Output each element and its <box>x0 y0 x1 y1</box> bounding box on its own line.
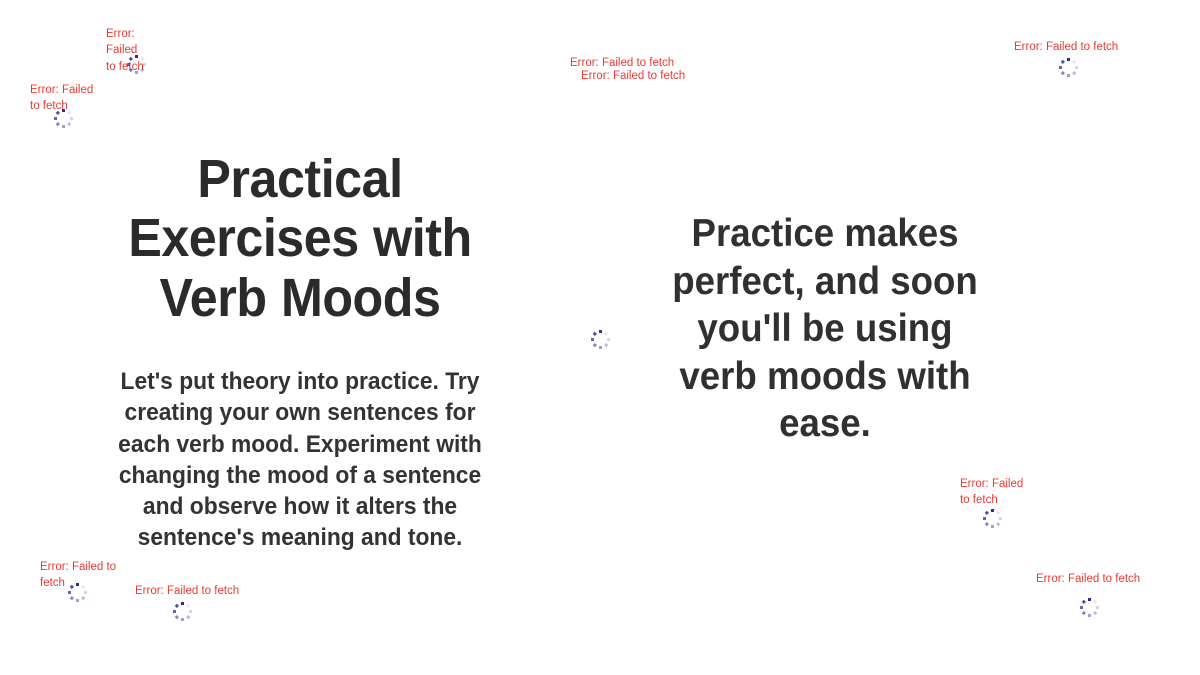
spinner-dot <box>1067 58 1070 61</box>
loading-spinner-icon <box>1058 57 1078 77</box>
spinner-dot <box>173 610 176 613</box>
spinner-dot <box>174 603 178 607</box>
spinner-dot <box>67 110 71 114</box>
spinner-dot <box>181 602 184 605</box>
spinner-dot <box>54 117 57 120</box>
spinner-dot <box>81 584 85 588</box>
fetch-error-message: Error: Failed to fetch <box>135 583 255 599</box>
spinner-ring <box>590 329 610 349</box>
loading-spinner-icon <box>1079 597 1099 617</box>
spinner-dot <box>1072 71 1076 75</box>
spinner-ring <box>126 54 146 74</box>
spinner-dot <box>1088 598 1091 601</box>
spinner-dot <box>135 71 138 74</box>
spinner-dot <box>128 56 132 60</box>
fetch-error-message: Error: Failed to fetch <box>1036 571 1156 587</box>
spinner-dot <box>62 109 65 112</box>
spinner-ring <box>982 508 1002 528</box>
spinner-dot <box>1093 599 1097 603</box>
right-text-column: Practice makes perfect, and soon you'll … <box>660 210 990 448</box>
spinner-ring <box>67 582 87 602</box>
spinner-dot <box>62 125 65 128</box>
spinner-dot <box>983 517 986 520</box>
slide-body-paragraph: Let's put theory into practice. Try crea… <box>99 366 502 553</box>
spinner-dot <box>186 615 190 619</box>
slide-pullquote: Practice makes perfect, and soon you'll … <box>670 210 980 448</box>
spinner-dot <box>1093 611 1097 615</box>
loading-spinner-icon <box>67 582 87 602</box>
spinner-dot <box>592 331 596 335</box>
fetch-error-message: Error: Failed to fetch <box>581 68 701 84</box>
spinner-dot <box>1080 606 1083 609</box>
spinner-dot <box>181 618 184 621</box>
spinner-dot <box>1096 606 1099 609</box>
spinner-dot <box>599 346 602 349</box>
fetch-error-text: Error: Failed to fetch <box>581 68 701 84</box>
spinner-ring <box>1058 57 1078 77</box>
spinner-dot <box>174 615 178 619</box>
spinner-dot <box>81 596 85 600</box>
page-title: Practical Exercises with Verb Moods <box>77 150 523 328</box>
fetch-error-message: Error: Failed to fetch <box>960 476 1024 509</box>
spinner-dot <box>76 583 79 586</box>
left-text-column: Practical Exercises with Verb Moods Let'… <box>60 150 540 553</box>
spinner-dot <box>84 591 87 594</box>
spinner-dot <box>984 522 988 526</box>
spinner-dot <box>599 330 602 333</box>
spinner-dot <box>1088 614 1091 617</box>
fetch-error-text: Error: Failed to fetch <box>960 476 1024 509</box>
spinner-dot <box>1075 66 1078 69</box>
spinner-dot <box>607 338 610 341</box>
spinner-dot <box>592 343 596 347</box>
spinner-dot <box>55 110 59 114</box>
spinner-ring <box>172 601 192 621</box>
spinner-dot <box>69 596 73 600</box>
spinner-dot <box>991 525 994 528</box>
spinner-dot <box>135 55 138 58</box>
spinner-ring <box>1079 597 1099 617</box>
spinner-dot <box>70 117 73 120</box>
slide-canvas: Practical Exercises with Verb Moods Let'… <box>0 0 1200 675</box>
spinner-dot <box>984 510 988 514</box>
spinner-dot <box>143 63 146 66</box>
loading-spinner-icon <box>53 108 73 128</box>
spinner-dot <box>128 68 132 72</box>
spinner-dot <box>127 63 130 66</box>
loading-spinner-icon <box>590 329 610 349</box>
spinner-dot <box>67 122 71 126</box>
spinner-dot <box>55 122 59 126</box>
spinner-dot <box>996 522 1000 526</box>
spinner-dot <box>1059 66 1062 69</box>
spinner-dot <box>604 343 608 347</box>
spinner-dot <box>1072 59 1076 63</box>
spinner-dot <box>1081 611 1085 615</box>
loading-spinner-icon <box>982 508 1002 528</box>
spinner-dot <box>999 517 1002 520</box>
spinner-dot <box>1081 599 1085 603</box>
spinner-dot <box>591 338 594 341</box>
spinner-dot <box>68 591 71 594</box>
fetch-error-message: Error: Failed to fetch <box>1014 39 1134 55</box>
spinner-dot <box>76 599 79 602</box>
spinner-dot <box>69 584 73 588</box>
spinner-ring <box>53 108 73 128</box>
fetch-error-text: Error: Failed to fetch <box>135 583 255 599</box>
spinner-dot <box>1060 71 1064 75</box>
spinner-dot <box>996 510 1000 514</box>
spinner-dot <box>140 68 144 72</box>
spinner-dot <box>1067 74 1070 77</box>
spinner-dot <box>186 603 190 607</box>
spinner-dot <box>604 331 608 335</box>
fetch-error-text: Error: Failed to fetch <box>1036 571 1156 587</box>
spinner-dot <box>991 509 994 512</box>
loading-spinner-icon <box>172 601 192 621</box>
fetch-error-text: Error: Failed to fetch <box>1014 39 1134 55</box>
spinner-dot <box>1060 59 1064 63</box>
loading-spinner-icon <box>126 54 146 74</box>
spinner-dot <box>189 610 192 613</box>
spinner-dot <box>140 56 144 60</box>
